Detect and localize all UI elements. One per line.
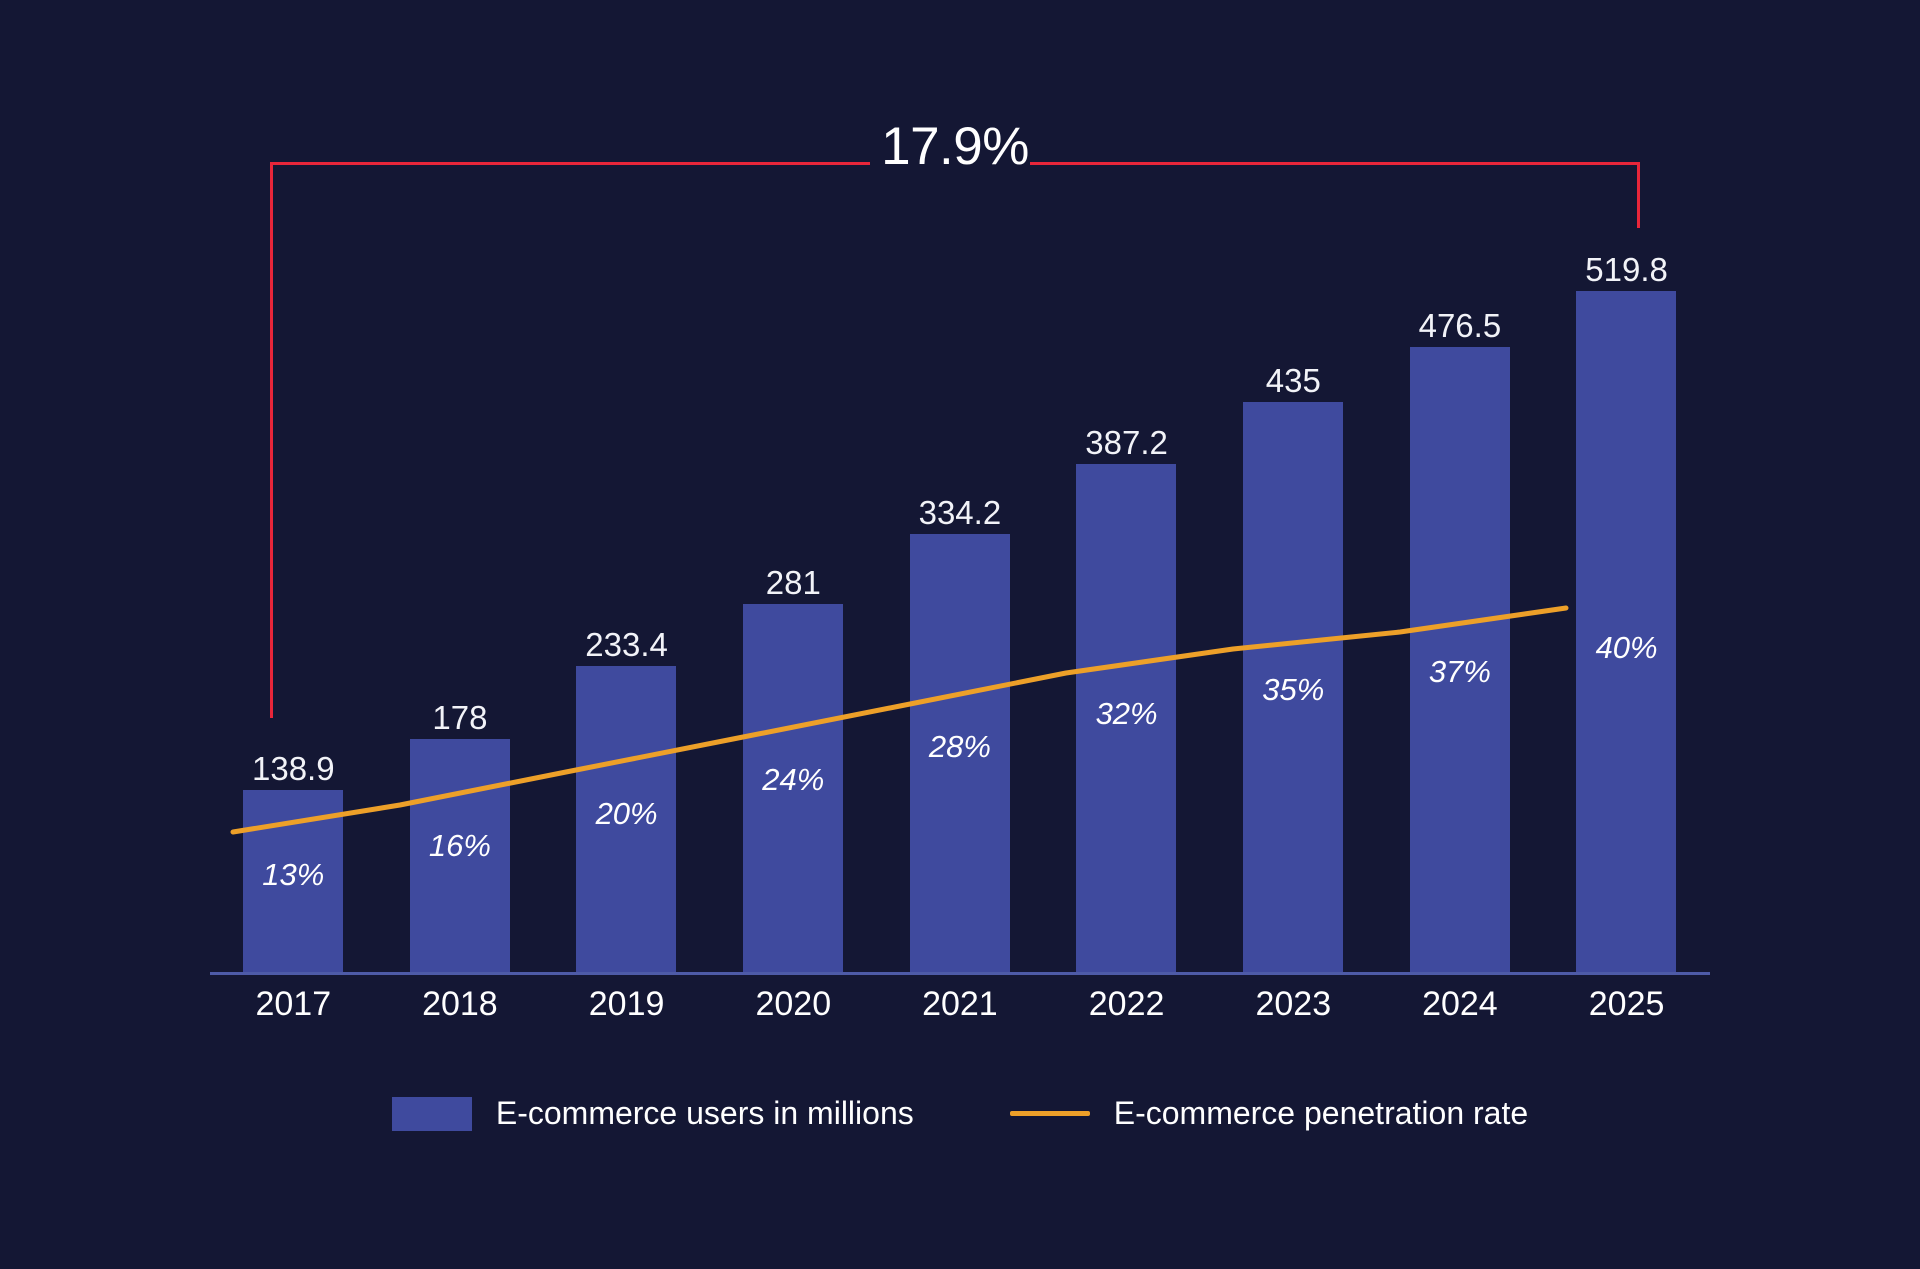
legend-item-penetration[interactable]: E-commerce penetration rate	[1010, 1095, 1528, 1132]
x-axis-labels: 2017 2018 2019 2020 2021 2022 2023 2024 …	[210, 985, 1710, 1045]
legend-label-users: E-commerce users in millions	[496, 1095, 914, 1132]
chart-legend: E-commerce users in millions E-commerce …	[0, 1095, 1920, 1132]
x-tick-2019: 2019	[543, 985, 710, 1024]
x-tick-2022: 2022	[1043, 985, 1210, 1024]
pct-label-2022: 32%	[1043, 696, 1210, 732]
data-labels-layer: 138.9 178 233.4 281 334.2 387.2 435 476.…	[210, 240, 1710, 975]
bar-value-2024: 476.5	[1377, 307, 1544, 345]
x-tick-2023: 2023	[1210, 985, 1377, 1024]
bar-value-2022: 387.2	[1043, 424, 1210, 462]
legend-label-penetration: E-commerce penetration rate	[1114, 1095, 1528, 1132]
pct-label-2017: 13%	[210, 857, 377, 893]
x-tick-2021: 2021	[877, 985, 1044, 1024]
cagr-label: 17.9%	[870, 116, 1040, 177]
ecommerce-growth-chart: 17.9% 138.9 178 233.4 281 334.2	[0, 0, 1920, 1269]
x-tick-2018: 2018	[377, 985, 544, 1024]
pct-label-2025: 40%	[1543, 630, 1710, 666]
bar-value-2025: 519.8	[1543, 251, 1710, 289]
bar-value-2021: 334.2	[877, 494, 1044, 532]
bar-value-2020: 281	[710, 564, 877, 602]
cagr-bracket-top-left-segment	[270, 162, 870, 165]
pct-label-2024: 37%	[1377, 654, 1544, 690]
bar-value-2023: 435	[1210, 362, 1377, 400]
pct-label-2023: 35%	[1210, 672, 1377, 708]
bar-swatch-icon	[392, 1097, 472, 1131]
plot-area: 138.9 178 233.4 281 334.2 387.2 435 476.…	[210, 240, 1710, 975]
pct-label-2021: 28%	[877, 729, 1044, 765]
line-swatch-icon	[1010, 1111, 1090, 1116]
bar-value-2019: 233.4	[543, 626, 710, 664]
pct-label-2020: 24%	[710, 762, 877, 798]
pct-label-2018: 16%	[377, 828, 544, 864]
x-tick-2025: 2025	[1543, 985, 1710, 1024]
bar-value-2017: 138.9	[210, 750, 377, 788]
cagr-bracket-right-stem	[1637, 162, 1640, 228]
cagr-bracket-top-right-segment	[1030, 162, 1640, 165]
x-tick-2020: 2020	[710, 985, 877, 1024]
bar-value-2018: 178	[377, 699, 544, 737]
x-tick-2017: 2017	[210, 985, 377, 1024]
legend-item-users[interactable]: E-commerce users in millions	[392, 1095, 914, 1132]
x-tick-2024: 2024	[1377, 985, 1544, 1024]
pct-label-2019: 20%	[543, 796, 710, 832]
